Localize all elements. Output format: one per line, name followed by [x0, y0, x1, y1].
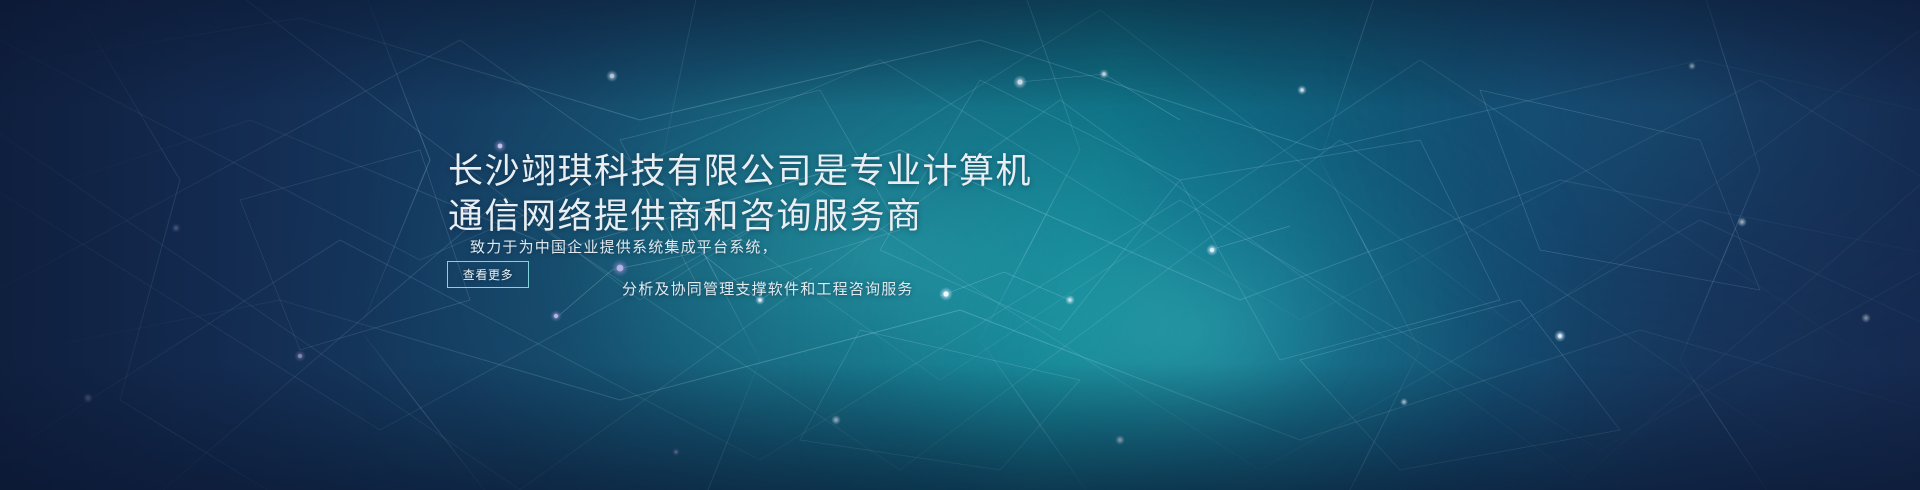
- hero-headline: 长沙翊琪科技有限公司是专业计算机 通信网络提供商和咨询服务商: [448, 149, 1032, 239]
- headline-line-1: 长沙翊琪科技有限公司是专业计算机: [448, 149, 1032, 194]
- subtitle-line-1: 致力于为中国企业提供系统集成平台系统，: [470, 227, 914, 269]
- hero-content: 长沙翊琪科技有限公司是专业计算机 通信网络提供商和咨询服务商 致力于为中国企业提…: [0, 0, 1920, 490]
- view-more-button[interactable]: 查看更多: [447, 261, 529, 288]
- hero-banner: 长沙翊琪科技有限公司是专业计算机 通信网络提供商和咨询服务商 致力于为中国企业提…: [0, 0, 1920, 490]
- hero-subtitle: 致力于为中国企业提供系统集成平台系统， 分析及协同管理支撑软件和工程咨询服务: [470, 227, 914, 311]
- subtitle-line-2: 分析及协同管理支撑软件和工程咨询服务: [622, 269, 914, 311]
